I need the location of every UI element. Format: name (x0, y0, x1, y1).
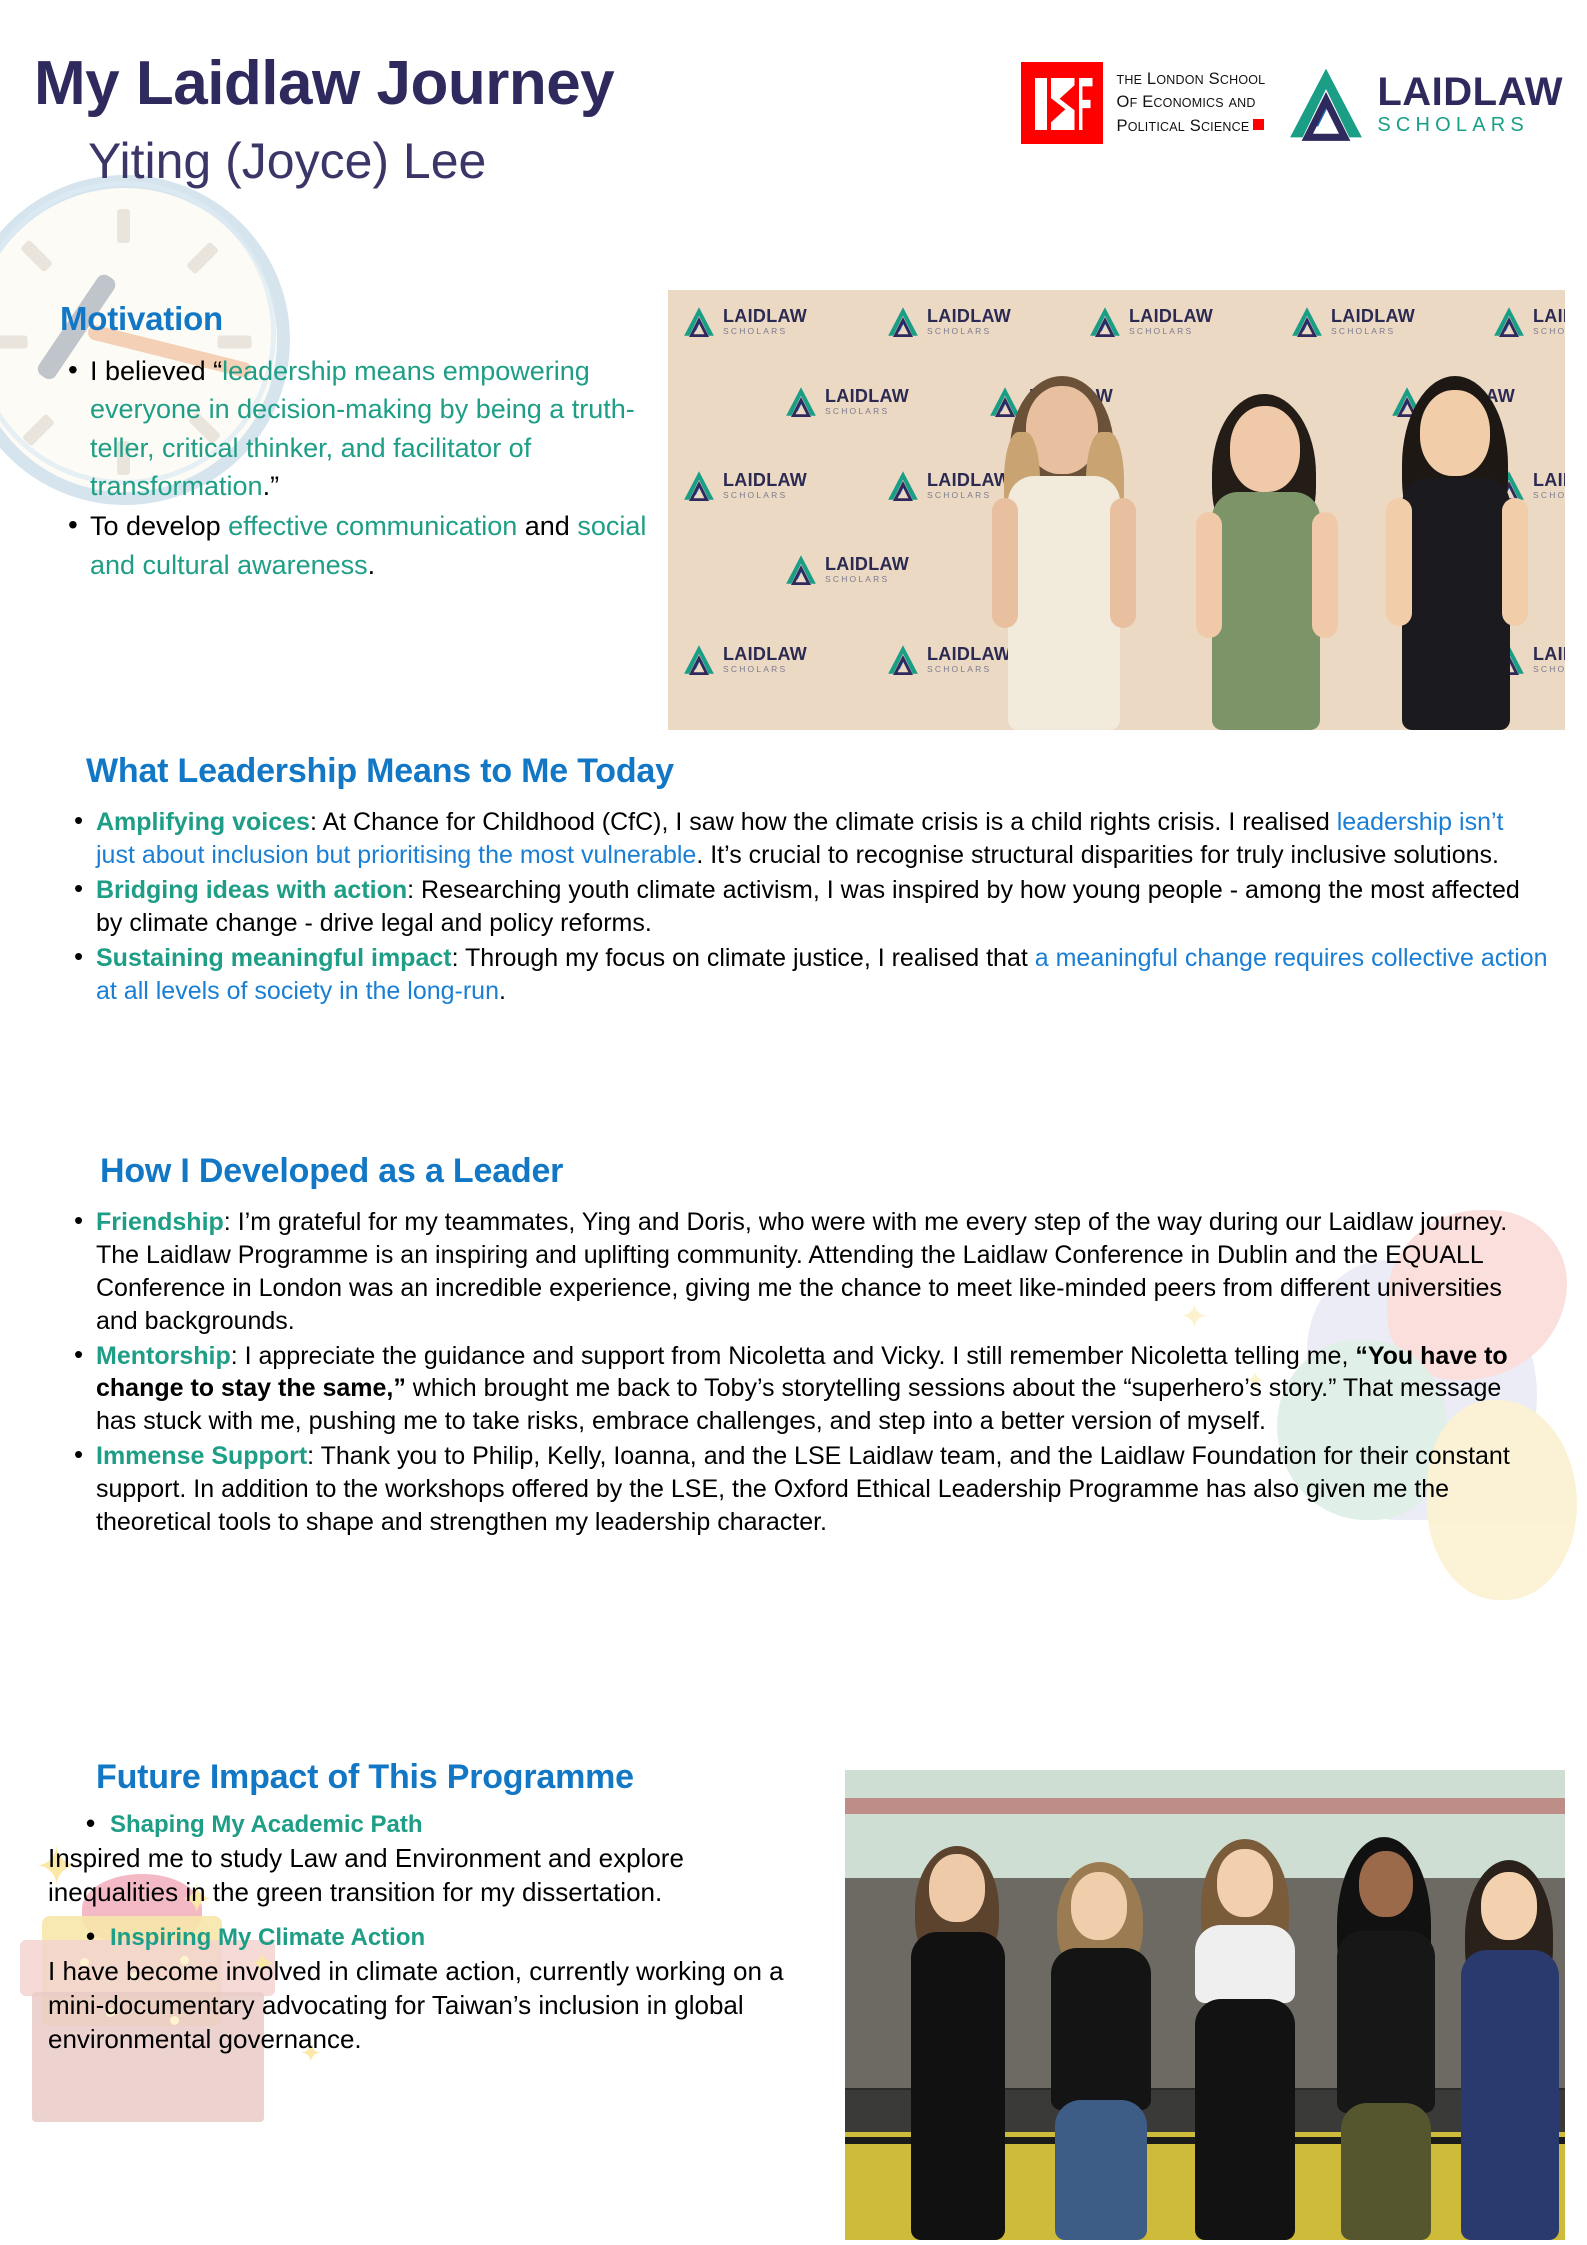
list-item: I believed “leadership means empowering … (60, 352, 680, 505)
list-item: Friendship: I’m grateful for my teammate… (66, 1206, 1548, 1338)
leadership-today-heading: What Leadership Means to Me Today (86, 752, 1548, 791)
motivation-heading: Motivation (60, 300, 680, 338)
bullet-text: I believed “leadership means empowering … (90, 356, 635, 501)
person-figure (1168, 380, 1358, 730)
developed-bullet-list: Friendship: I’m grateful for my teammate… (66, 1206, 1548, 1539)
section-motivation: Motivation I believed “leadership means … (60, 300, 680, 586)
lse-logo: THE LONDON SCHOOL OF ECONOMICS AND POLIT… (1021, 62, 1266, 144)
future-impact-block: Inspiring My Climate Action I have becom… (48, 1924, 808, 2057)
bullet-text: Friendship: I’m grateful for my teammate… (96, 1208, 1507, 1335)
page-title: My Laidlaw Journey (34, 48, 614, 119)
list-item: Bridging ideas with action: Researching … (66, 874, 1548, 940)
future-impact-item-body: I have become involved in climate action… (48, 1954, 808, 2057)
future-impact-block: Shaping My Academic Path Inspired me to … (48, 1811, 808, 1910)
leadership-today-bullet-list: Amplifying voices: At Chance for Childho… (66, 806, 1548, 1008)
logo-row: THE LONDON SCHOOL OF ECONOMICS AND POLIT… (1021, 62, 1563, 144)
laidlaw-logo: LAIDLAW SCHOLARS (1287, 65, 1563, 141)
photo-lse-laidlaw-team (845, 1770, 1565, 2240)
laidlaw-wordmark: LAIDLAW SCHOLARS (1377, 72, 1563, 135)
poster-header: My Laidlaw Journey Yiting (Joyce) Lee TH… (0, 0, 1587, 255)
lse-line1: L (1147, 70, 1156, 88)
bullet-text: Mentorship: I appreciate the guidance an… (96, 1342, 1508, 1436)
lse-wordmark: THE LONDON SCHOOL OF ECONOMICS AND POLIT… (1117, 68, 1266, 138)
motivation-bullet-list: I believed “leadership means empowering … (60, 352, 680, 584)
lse-mark-icon (1021, 62, 1103, 144)
future-impact-item-title: Shaping My Academic Path (110, 1811, 808, 1839)
list-item: Sustaining meaningful impact: Through my… (66, 942, 1548, 1008)
list-item: Immense Support: Thank you to Philip, Ke… (66, 1440, 1548, 1539)
laidlaw-subword: SCHOLARS (1377, 115, 1563, 135)
person-figure (1031, 1850, 1171, 2240)
list-item: Mentorship: I appreciate the guidance an… (66, 1340, 1548, 1439)
section-developed-as-leader: How I Developed as a Leader Friendship: … (48, 1152, 1548, 1541)
section-leadership-today: What Leadership Means to Me Today Amplif… (48, 752, 1548, 1010)
list-item: To develop effective communication and s… (60, 507, 680, 584)
list-item: Amplifying voices: At Chance for Childho… (66, 806, 1548, 872)
poster-root: ✦ ✦ ✦ ✦ ✦ ✦ My Laidlaw Journey Yiting (J… (0, 0, 1587, 2245)
laidlaw-triangle-icon (1287, 65, 1365, 141)
future-impact-item-title: Inspiring My Climate Action (110, 1924, 808, 1952)
developed-heading: How I Developed as a Leader (100, 1152, 1548, 1191)
bullet-text: Bridging ideas with action: Researching … (96, 876, 1520, 937)
person-figure (1445, 1850, 1565, 2240)
author-name: Yiting (Joyce) Lee (88, 132, 486, 190)
person-figure (893, 1840, 1023, 2240)
person-figure (968, 370, 1158, 730)
bullet-text: To develop effective communication and s… (90, 511, 646, 579)
person-figure (1358, 370, 1548, 730)
person-figure (1315, 1835, 1455, 2240)
bullet-text: Immense Support: Thank you to Philip, Ke… (96, 1442, 1510, 1536)
section-future-impact: Future Impact of This Programme Shaping … (48, 1758, 808, 2071)
laidlaw-word: LAIDLAW (1377, 72, 1563, 112)
bullet-text: Amplifying voices: At Chance for Childho… (96, 808, 1503, 869)
bullet-text: Sustaining meaningful impact: Through my… (96, 944, 1548, 1005)
future-impact-heading: Future Impact of This Programme (96, 1758, 808, 1797)
lse-red-square-icon (1253, 119, 1264, 130)
person-figure (1175, 1835, 1315, 2240)
photo-laidlaw-backdrop: LAIDLAWSCHOLARS LAIDLAWSCHOLARS LAIDLAWS… (668, 290, 1565, 730)
future-impact-item-body: Inspired me to study Law and Environment… (48, 1841, 808, 1910)
